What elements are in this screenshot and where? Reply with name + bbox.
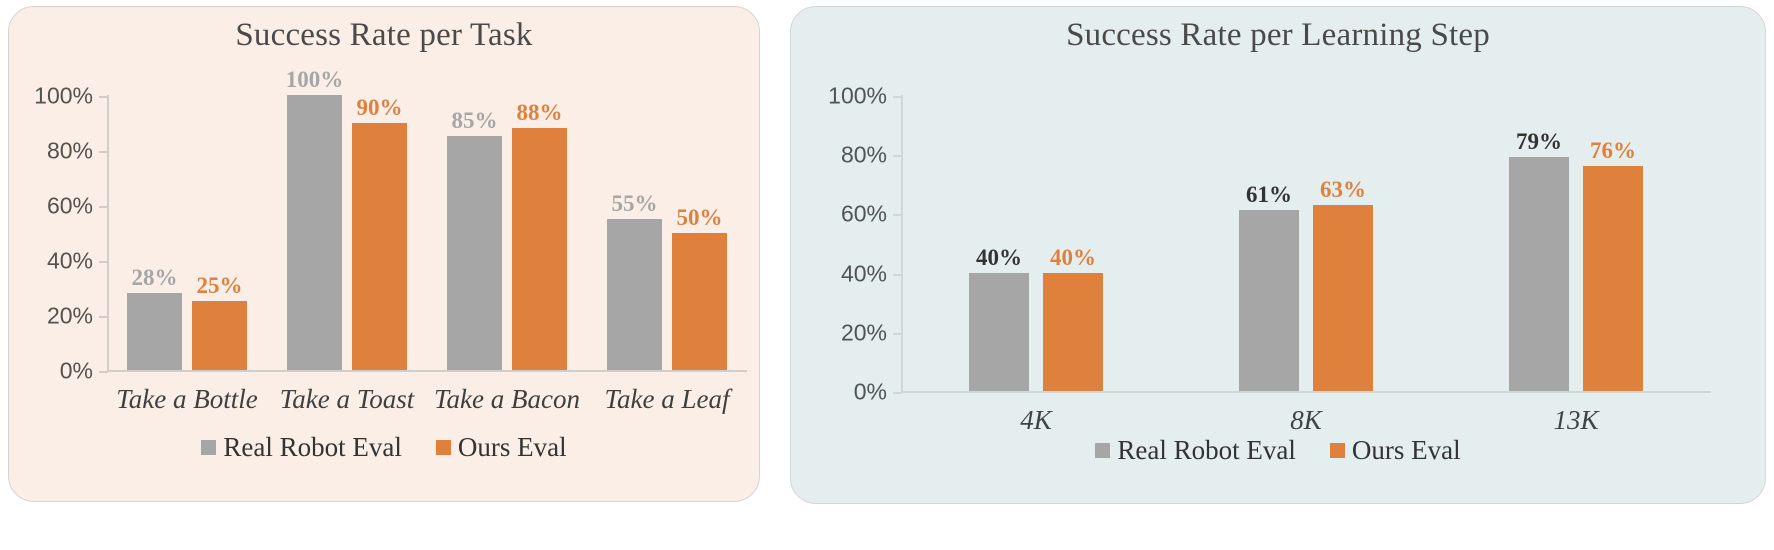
bar-column[interactable]: 55% (607, 219, 662, 370)
bar[interactable] (1583, 166, 1643, 391)
chart-panel-success-rate-per-learning-step: Success Rate per Learning Step 0%20%40%6… (790, 6, 1766, 504)
legend-label: Real Robot Eval (223, 432, 401, 463)
bar[interactable] (969, 273, 1029, 391)
legend-swatch-icon (201, 440, 216, 455)
bar-value-label: 40% (976, 246, 1022, 269)
y-axis-tick-label: 100% (828, 83, 887, 110)
y-axis-tick-label: 60% (47, 193, 93, 220)
y-axis-tick-label: 40% (47, 248, 93, 275)
bar-column[interactable]: 85% (447, 136, 502, 370)
y-axis-tick-label: 0% (60, 358, 93, 385)
bar-value-label: 76% (1590, 139, 1636, 162)
y-axis-tick-label: 60% (841, 201, 887, 228)
bar-group: 61%63%8K (1171, 95, 1441, 393)
legend-swatch-icon (1095, 443, 1110, 458)
legend-label: Ours Eval (1352, 435, 1461, 466)
chart-title-right: Success Rate per Learning Step (791, 17, 1765, 54)
bar[interactable] (672, 233, 727, 371)
legend-swatch-icon (436, 440, 451, 455)
x-axis-category-label: 13K (1441, 405, 1711, 436)
y-axis-tick-label: 20% (47, 303, 93, 330)
bar-value-label: 63% (1320, 178, 1366, 201)
bar-value-label: 25% (197, 274, 243, 297)
legend-label: Ours Eval (458, 432, 567, 463)
bar-column[interactable]: 100% (287, 95, 342, 370)
bar-value-label: 100% (286, 68, 344, 91)
bar-column[interactable]: 50% (672, 233, 727, 371)
bar[interactable] (1239, 210, 1299, 391)
bar-value-label: 28% (132, 266, 178, 289)
y-axis-tick-label: 100% (34, 83, 93, 110)
bar-column[interactable]: 25% (192, 301, 247, 370)
legend-right: Real Robot EvalOurs Eval (791, 435, 1765, 466)
y-axis-tick-label: 80% (841, 142, 887, 169)
chart-panel-success-rate-per-task: Success Rate per Task 0%20%40%60%80%100%… (8, 6, 760, 502)
y-axis-tick-label: 20% (841, 319, 887, 346)
bar[interactable] (512, 128, 567, 370)
bar-column[interactable]: 88% (512, 128, 567, 370)
x-axis-category-label: Take a Bottle (107, 384, 267, 415)
x-axis-category-label: Take a Leaf (587, 384, 747, 415)
bar[interactable] (1509, 157, 1569, 391)
bar-column[interactable]: 79% (1509, 157, 1569, 391)
bar[interactable] (1043, 273, 1103, 391)
bar-group: 85%88%Take a Bacon (427, 95, 587, 372)
bar-value-label: 40% (1050, 246, 1096, 269)
bar-value-label: 61% (1246, 183, 1292, 206)
bar-column[interactable]: 28% (127, 293, 182, 370)
bar-column[interactable]: 90% (352, 123, 407, 371)
y-axis-tick-label: 80% (47, 138, 93, 165)
bar[interactable] (287, 95, 342, 370)
legend-item[interactable]: Real Robot Eval (201, 432, 401, 463)
y-axis-tick-label: 40% (841, 260, 887, 287)
bar[interactable] (447, 136, 502, 370)
bar-group: 55%50%Take a Leaf (587, 95, 747, 372)
bar-column[interactable]: 40% (969, 273, 1029, 391)
bar[interactable] (1313, 205, 1373, 391)
bar-column[interactable]: 40% (1043, 273, 1103, 391)
plot-area-left: 0%20%40%60%80%100% 28%25%Take a Bottle10… (107, 95, 747, 372)
bar[interactable] (607, 219, 662, 370)
bar-value-label: 85% (452, 109, 498, 132)
bar-value-label: 50% (677, 206, 723, 229)
bar-value-label: 90% (357, 96, 403, 119)
bar-value-label: 55% (612, 192, 658, 215)
bar-value-label: 88% (517, 101, 563, 124)
bar[interactable] (192, 301, 247, 370)
bar-column[interactable]: 63% (1313, 205, 1373, 391)
bar-value-label: 79% (1516, 130, 1562, 153)
legend-swatch-icon (1330, 443, 1345, 458)
plot-area-right: 0%20%40%60%80%100% 40%40%4K61%63%8K79%76… (901, 95, 1711, 393)
bar-group: 100%90%Take a Toast (267, 95, 427, 372)
figure-root: Success Rate per Task 0%20%40%60%80%100%… (0, 0, 1774, 550)
bar-column[interactable]: 61% (1239, 210, 1299, 391)
legend-left: Real Robot EvalOurs Eval (9, 432, 759, 463)
legend-label: Real Robot Eval (1117, 435, 1295, 466)
chart-title-left: Success Rate per Task (9, 17, 759, 54)
bar[interactable] (127, 293, 182, 370)
bar-column[interactable]: 76% (1583, 166, 1643, 391)
x-axis-category-label: Take a Bacon (427, 384, 587, 415)
y-axis-tick-label: 0% (854, 379, 887, 406)
legend-item[interactable]: Ours Eval (1330, 435, 1461, 466)
bar-group: 79%76%13K (1441, 95, 1711, 393)
x-axis-category-label: 8K (1171, 405, 1441, 436)
bar-group: 40%40%4K (901, 95, 1171, 393)
x-axis-category-label: 4K (901, 405, 1171, 436)
legend-item[interactable]: Real Robot Eval (1095, 435, 1295, 466)
legend-item[interactable]: Ours Eval (436, 432, 567, 463)
bar-group: 28%25%Take a Bottle (107, 95, 267, 372)
bar[interactable] (352, 123, 407, 371)
x-axis-category-label: Take a Toast (267, 384, 427, 415)
